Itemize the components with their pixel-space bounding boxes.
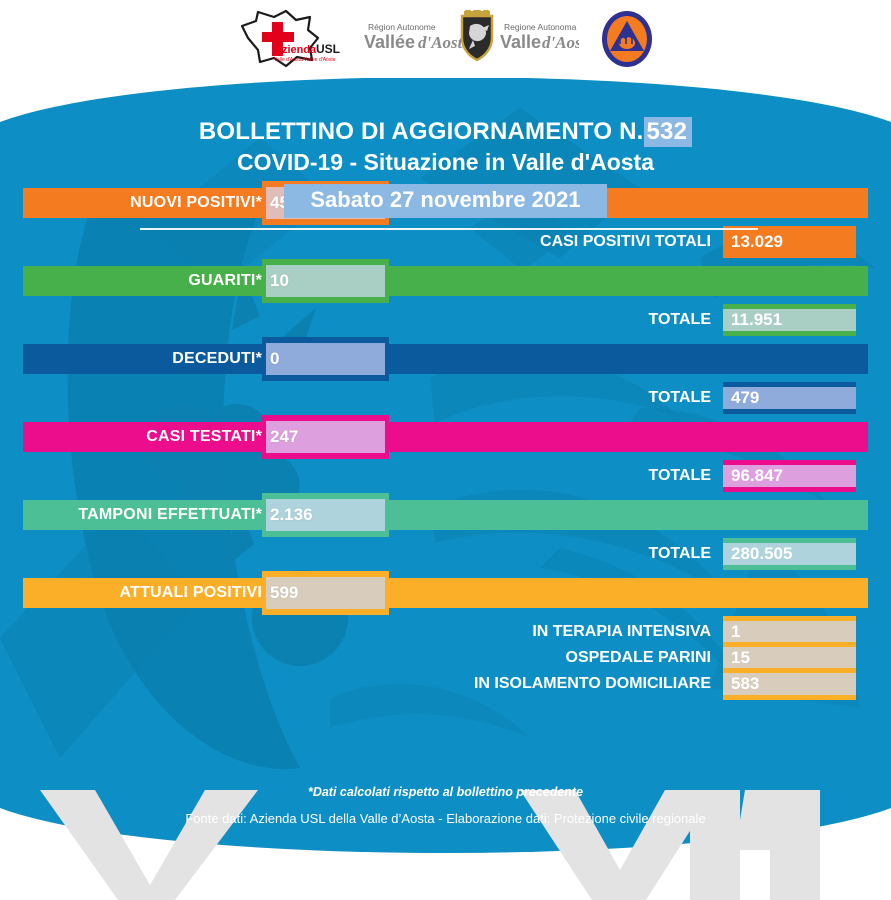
svg-text:Azienda: Azienda (274, 44, 317, 56)
sub-bar-deceduti-totale: TOTALE479 (723, 382, 856, 414)
sub-value-in-isolamento-domiciliare: 583 (723, 674, 759, 694)
sub-bar-in-isolamento-domiciliare: IN ISOLAMENTO DOMICILIARE583 (723, 668, 856, 700)
sub-label-tamponi-totale: TOTALE (648, 545, 723, 563)
row-label-attuali-positivi: ATTUALI POSITIVI (120, 584, 262, 602)
svg-text:Valle d'Aosta/Vallée d'Aoste: Valle d'Aosta/Vallée d'Aoste (274, 57, 336, 63)
row-value-casi-testati: 247 (262, 427, 298, 447)
value-chip-tamponi-effettuati: 2.136 (262, 493, 389, 537)
azienda-usl-valle-daosta-logo: Azienda USL Valle d'Aosta/Vallée d'Aoste (234, 8, 346, 70)
protezione-civile-logo (597, 9, 657, 69)
sub-value-casi-positivi-totali: 13.029 (723, 232, 783, 252)
row-value-attuali-positivi: 599 (262, 583, 298, 603)
sub-label-ospedale-parini: OSPEDALE PARINI (566, 649, 724, 667)
title-prefix: BOLLETTINO DI AGGIORNAMENTO N. (199, 118, 644, 145)
sub-label-in-isolamento-domiciliare: IN ISOLAMENTO DOMICILIARE (474, 675, 723, 693)
sub-value-in-terapia-intensiva: 1 (723, 622, 740, 642)
row-label-tamponi-effettuati: TAMPONI EFFETTUATI* (78, 506, 262, 524)
value-chip-guariti: 10 (262, 259, 389, 303)
title-block: BOLLETTINO DI AGGIORNAMENTO N.532 COVID-… (0, 118, 891, 218)
bulletin-infographic: Azienda USL Valle d'Aosta/Vallée d'Aoste… (0, 0, 891, 900)
blue-panel: BOLLETTINO DI AGGIORNAMENTO N.532 COVID-… (0, 78, 891, 858)
sub-fill (723, 621, 856, 643)
date-badge: Sabato 27 novembre 2021 (284, 184, 606, 218)
page-subtitle: COVID-19 - Situazione in Valle d'Aosta (0, 149, 891, 176)
sub-bar-casi-testati-totale: TOTALE96.847 (723, 460, 856, 492)
svg-text:Région Autonome: Région Autonome (368, 22, 436, 32)
value-chip-attuali-positivi: 599 (262, 571, 389, 615)
row-value-guariti: 10 (262, 271, 289, 291)
main-bar-deceduti: DECEDUTI* (23, 344, 868, 374)
row-value-tamponi-effettuati: 2.136 (262, 505, 313, 525)
main-bar-attuali-positivi: ATTUALI POSITIVI (23, 578, 868, 608)
sub-value-deceduti-totale: 479 (723, 388, 759, 408)
value-chip-casi-testati: 247 (262, 415, 389, 459)
chip-fill (266, 343, 385, 375)
header-divider (140, 228, 758, 230)
main-bar-guariti: GUARITI* (23, 266, 868, 296)
svg-text:USL: USL (316, 42, 340, 56)
row-label-guariti: GUARITI* (188, 272, 262, 290)
footer-note: *Dati calcolati rispetto al bollettino p… (0, 785, 891, 799)
svg-text:Valle: Valle (500, 32, 541, 52)
sub-bar-tamponi-totale: TOTALE280.505 (723, 538, 856, 570)
regione-autonoma-valle-daosta-logo: Région Autonome Vallée d'Aoste Regione A… (364, 10, 579, 68)
sub-value-guariti-totale: 11.951 (723, 310, 782, 330)
sub-bar-guariti-totale: TOTALE11.951 (723, 304, 856, 336)
row-label-casi-testati: CASI TESTATI* (146, 428, 262, 446)
sub-value-ospedale-parini: 15 (723, 648, 750, 668)
main-bar-tamponi-effettuati: TAMPONI EFFETTUATI* (23, 500, 868, 530)
page-title: BOLLETTINO DI AGGIORNAMENTO N.532 (0, 118, 891, 146)
sub-label-casi-positivi-totali: CASI POSITIVI TOTALI (540, 233, 723, 251)
footer: *Dati calcolati rispetto al bollettino p… (0, 785, 891, 826)
sub-value-casi-testati-totale: 96.847 (723, 466, 783, 486)
row-label-deceduti: DECEDUTI* (172, 350, 262, 368)
date-wrapper: Sabato 27 novembre 2021 (0, 184, 891, 218)
sub-value-tamponi-totale: 280.505 (723, 544, 792, 564)
sub-label-casi-testati-totale: TOTALE (648, 467, 723, 485)
footer-source: Fonte dati: Azienda USL della Valle d’Ao… (0, 811, 891, 826)
main-bar-casi-testati: CASI TESTATI* (23, 422, 868, 452)
sub-label-guariti-totale: TOTALE (648, 311, 723, 329)
svg-text:Vallée: Vallée (364, 32, 415, 52)
sub-bar-casi-positivi-totali: CASI POSITIVI TOTALI13.029 (723, 226, 856, 258)
svg-text:d'Aosta: d'Aosta (542, 33, 579, 52)
svg-text:Regione Autonoma: Regione Autonoma (504, 22, 577, 32)
bulletin-number: 532 (644, 117, 693, 147)
value-chip-deceduti: 0 (262, 337, 389, 381)
logo-strip: Azienda USL Valle d'Aosta/Vallée d'Aoste… (0, 0, 891, 78)
sub-label-deceduti-totale: TOTALE (648, 389, 723, 407)
row-value-deceduti: 0 (262, 349, 279, 369)
sub-label-in-terapia-intensiva: IN TERAPIA INTENSIVA (532, 623, 723, 641)
